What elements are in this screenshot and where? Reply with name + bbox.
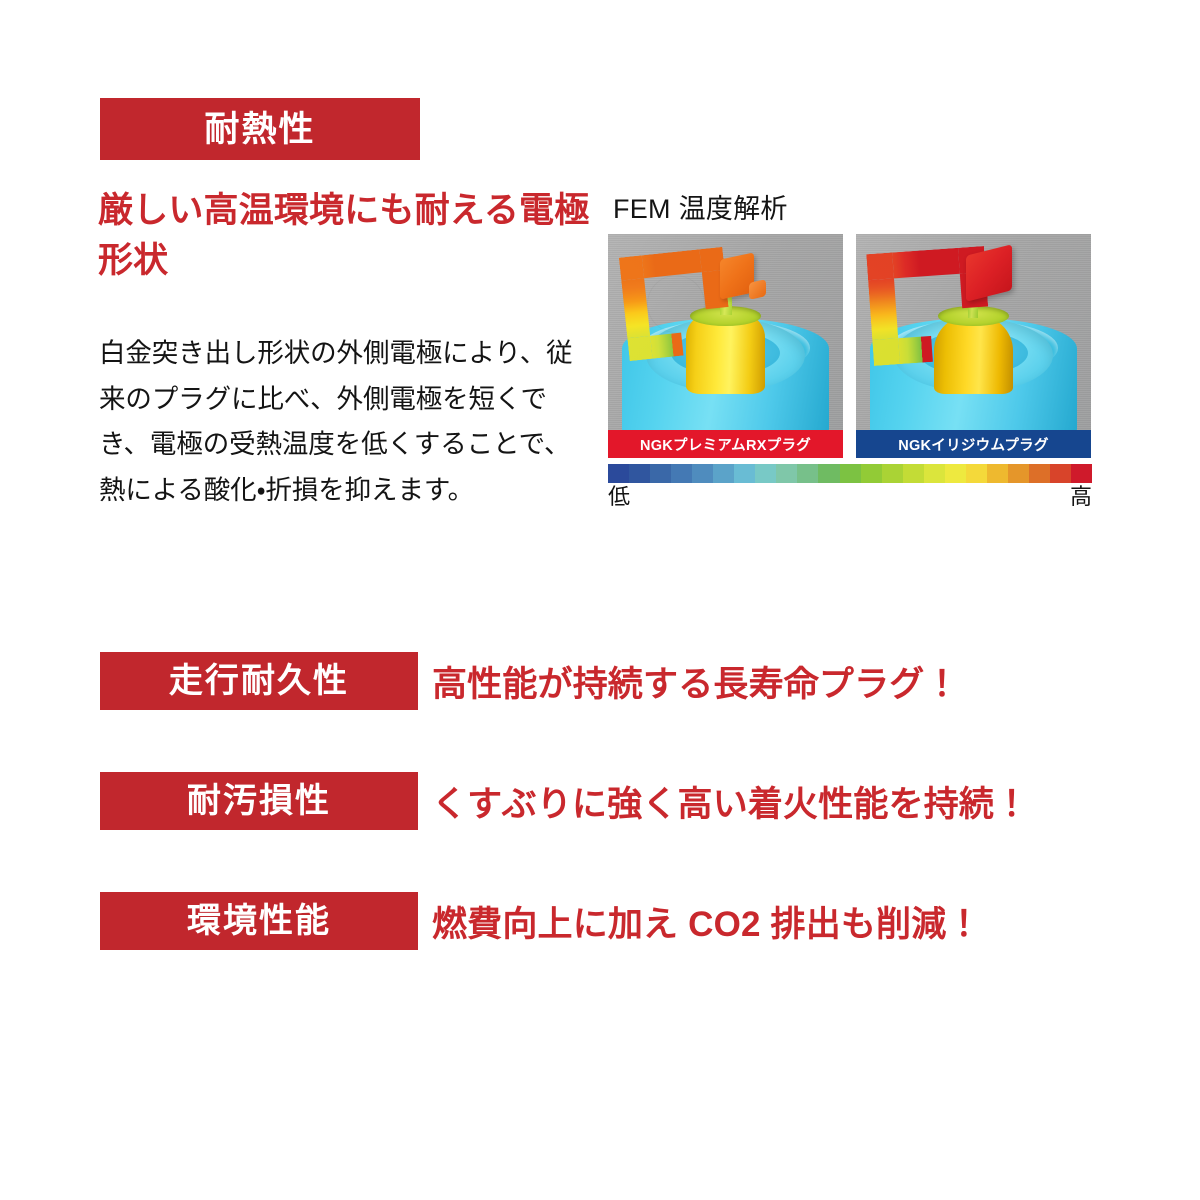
temperature-scale-segment-16 <box>945 464 966 483</box>
temperature-scale-segment-1 <box>629 464 650 483</box>
temperature-scale-segment-21 <box>1050 464 1071 483</box>
temperature-scale-segment-22 <box>1071 464 1092 483</box>
temperature-scale-bar <box>608 464 1092 483</box>
heat-resistance-section: 耐熱性 厳しい高温環境にも耐える電極形状 白金突き出し形状の外側電極により、従来… <box>0 0 1200 620</box>
feature-row: 環境性能 燃費向上に加え CO2 排出も削減！ <box>0 880 1200 1000</box>
feature-list-section: 走行耐久性 高性能が持続する長寿命プラグ！ 耐汚損性 くすぶりに強く高い着火性能… <box>0 640 1200 1000</box>
feature-text-driving-durability: 高性能が持続する長寿命プラグ！ <box>432 652 960 710</box>
temperature-scale-segment-17 <box>966 464 987 483</box>
heat-resistance-body-text: 白金突き出し形状の外側電極により、従来のプラグに比べ、外側電極を短くでき、電極の… <box>99 331 591 513</box>
fem-panel-caption-premium-rx: NGKプレミアムRXプラグ <box>608 430 843 458</box>
temperature-scale-segment-3 <box>671 464 692 483</box>
temperature-scale-segment-6 <box>734 464 755 483</box>
temperature-scale-low-label: 低 <box>608 485 630 509</box>
temperature-scale-segment-12 <box>861 464 882 483</box>
temperature-scale-segment-8 <box>776 464 797 483</box>
heat-resistance-headline: 厳しい高温環境にも耐える電極形状 <box>98 186 598 285</box>
temperature-scale-segment-11 <box>840 464 861 483</box>
temperature-scale-segment-18 <box>987 464 1008 483</box>
fem-panel-premium-rx: NGKプレミアムRXプラグ <box>608 234 843 458</box>
temperature-scale-segment-14 <box>903 464 924 483</box>
temperature-scale-segment-5 <box>713 464 734 483</box>
temperature-scale-segment-10 <box>818 464 839 483</box>
feature-text-fouling-resistance: くすぶりに強く高い着火性能を持続！ <box>432 772 1029 830</box>
plug-insulator-nose-icon <box>934 314 1014 394</box>
fem-panel-caption-iridium: NGKイリジウムプラグ <box>856 430 1091 458</box>
temperature-scale-segment-15 <box>924 464 945 483</box>
plug-platinum-tip-icon <box>749 279 766 300</box>
temperature-scale: 低 高 <box>608 464 1092 509</box>
feature-badge-fouling-resistance: 耐汚損性 <box>100 772 418 830</box>
temperature-scale-segment-4 <box>692 464 713 483</box>
feature-row: 走行耐久性 高性能が持続する長寿命プラグ！ <box>0 640 1200 760</box>
fem-panel-group: NGKプレミアムRXプラグ NGKイリジウムプラグ <box>608 234 1092 458</box>
temperature-scale-segment-19 <box>1008 464 1029 483</box>
heat-resistance-badge: 耐熱性 <box>100 98 420 160</box>
temperature-scale-segment-2 <box>650 464 671 483</box>
temperature-scale-segment-0 <box>608 464 629 483</box>
temperature-scale-segment-20 <box>1029 464 1050 483</box>
fem-thermal-render-iridium <box>856 234 1091 430</box>
temperature-scale-segment-7 <box>755 464 776 483</box>
feature-text-environmental-performance: 燃費向上に加え CO2 排出も削減！ <box>432 892 982 950</box>
temperature-scale-high-label: 高 <box>1070 485 1092 509</box>
temperature-scale-labels: 低 高 <box>608 485 1092 509</box>
temperature-scale-segment-9 <box>797 464 818 483</box>
feature-row: 耐汚損性 くすぶりに強く高い着火性能を持続！ <box>0 760 1200 880</box>
fem-analysis-title: FEM 温度解析 <box>613 196 1092 223</box>
temperature-scale-segment-13 <box>882 464 903 483</box>
fem-thermal-render-premium-rx <box>608 234 843 430</box>
feature-badge-driving-durability: 走行耐久性 <box>100 652 418 710</box>
fem-analysis-figure: FEM 温度解析 NGKプレミアムRXプラグ <box>608 196 1092 509</box>
feature-badge-environmental-performance: 環境性能 <box>100 892 418 950</box>
plug-ground-electrode-tip-icon <box>966 244 1012 301</box>
fem-panel-iridium: NGKイリジウムプラグ <box>856 234 1091 458</box>
